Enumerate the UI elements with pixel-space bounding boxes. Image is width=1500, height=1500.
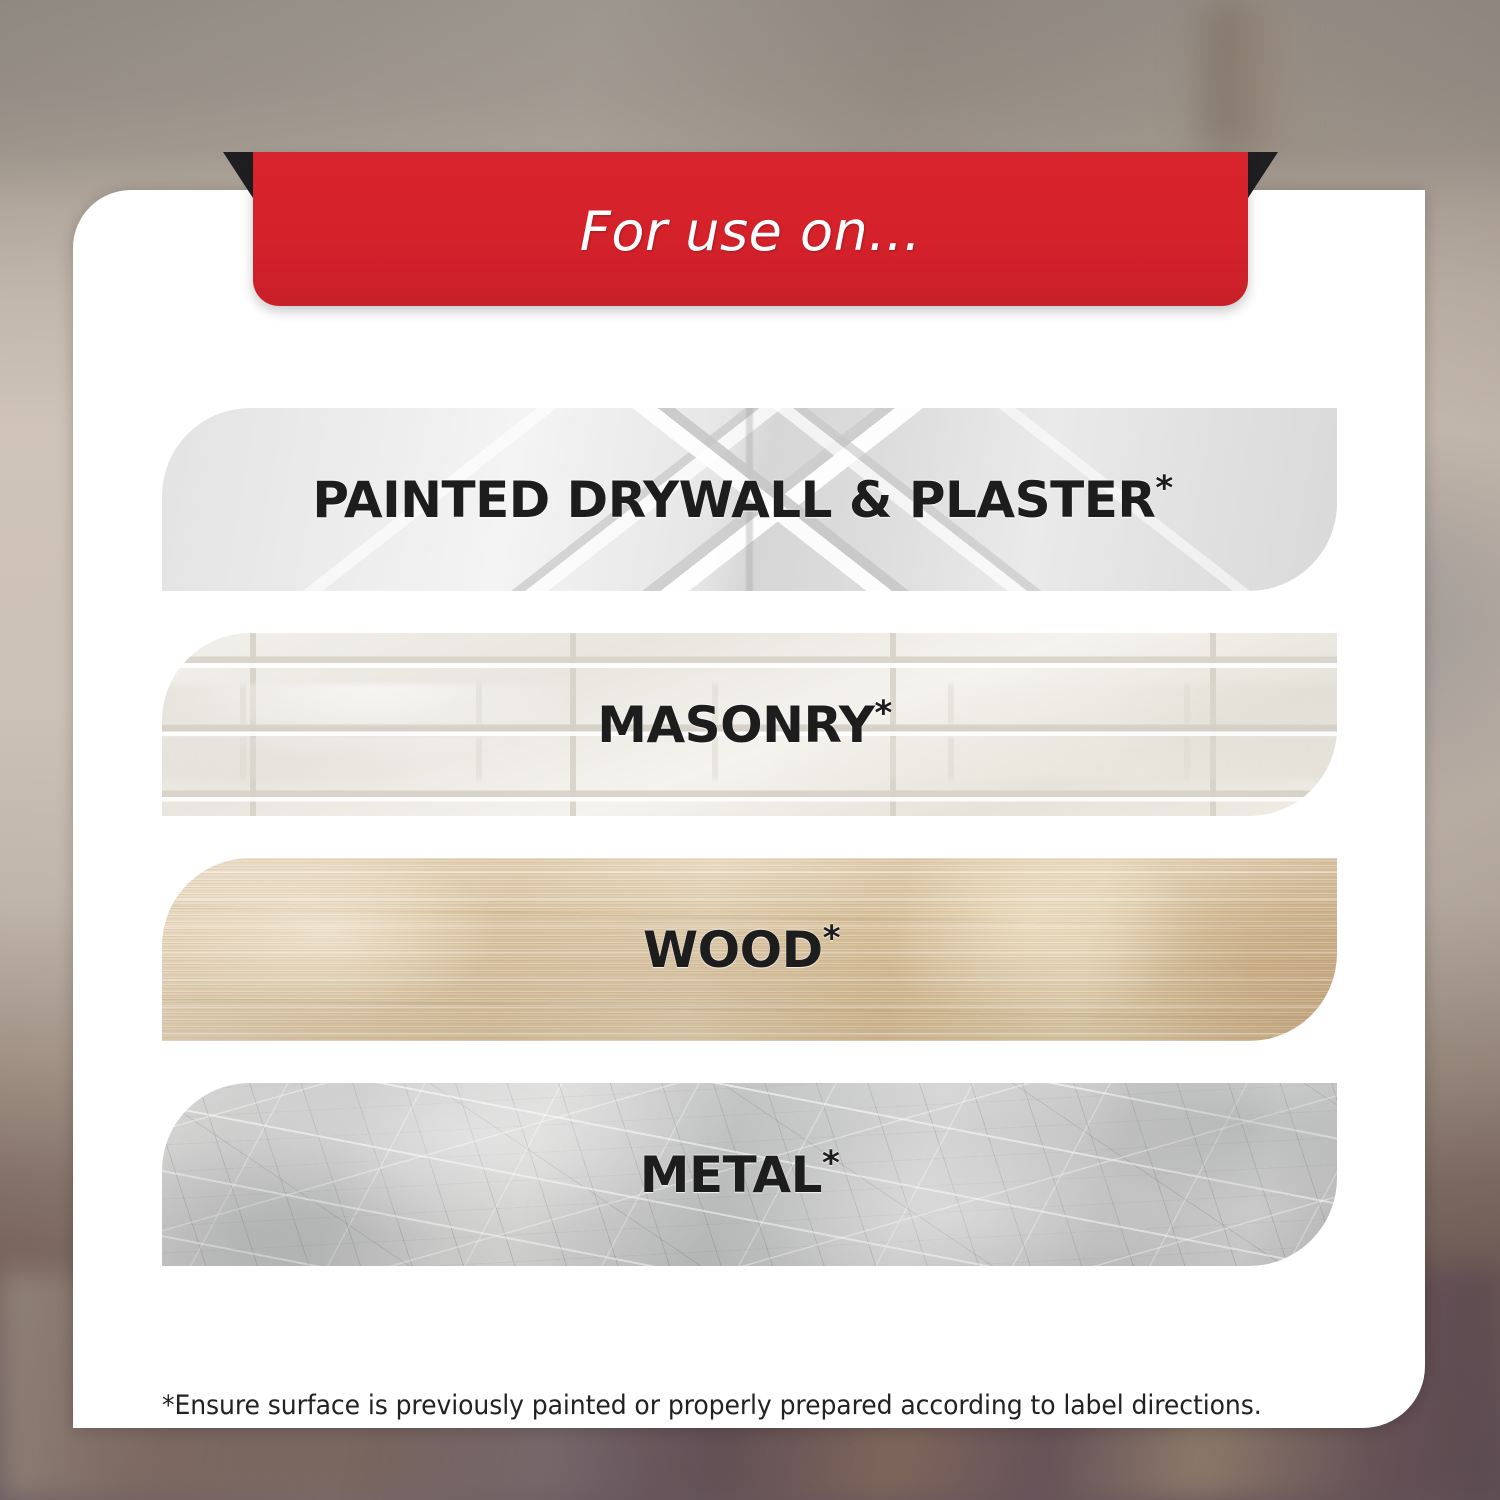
surface-row-masonry: MASONRY* xyxy=(162,633,1337,816)
page-title: For use on... xyxy=(580,200,921,263)
surface-label-metal: METAL* xyxy=(640,1146,839,1204)
surface-row-drywall: PAINTED DRYWALL & PLASTER* xyxy=(162,408,1337,591)
surface-label-masonry: MASONRY* xyxy=(597,696,892,754)
surface-label-metal-asterisk: * xyxy=(822,1143,839,1183)
surface-label-drywall-asterisk: * xyxy=(1155,468,1172,508)
surface-label-wood-text: WOOD xyxy=(643,921,823,979)
content-card: PAINTED DRYWALL & PLASTER* MASONRY* WOOD… xyxy=(73,190,1425,1428)
surface-label-drywall-text: PAINTED DRYWALL & PLASTER xyxy=(312,471,1155,529)
surface-row-wood: WOOD* xyxy=(162,858,1337,1041)
surface-list: PAINTED DRYWALL & PLASTER* MASONRY* WOOD… xyxy=(162,408,1337,1266)
surface-label-metal-text: METAL xyxy=(640,1146,822,1204)
header-ribbon: For use on... xyxy=(253,152,1248,306)
surface-label-wood-asterisk: * xyxy=(823,918,840,958)
ribbon-banner: For use on... xyxy=(253,152,1248,306)
surface-label-masonry-asterisk: * xyxy=(875,693,892,733)
surface-label-wood: WOOD* xyxy=(643,921,840,979)
surface-row-metal: METAL* xyxy=(162,1083,1337,1266)
ribbon-fold-left-icon xyxy=(223,152,253,198)
footnote-text: *Ensure surface is previously painted or… xyxy=(162,1390,1259,1421)
surface-label-drywall: PAINTED DRYWALL & PLASTER* xyxy=(312,471,1172,529)
ribbon-fold-right-icon xyxy=(1248,152,1278,198)
surface-label-masonry-text: MASONRY xyxy=(597,696,874,754)
background-ceiling-post xyxy=(1185,0,1295,150)
